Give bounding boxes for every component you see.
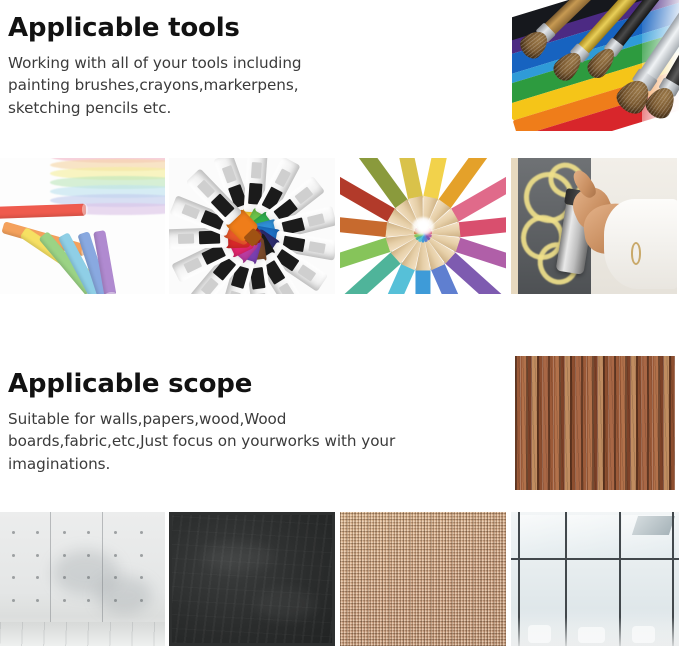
description-line: imaginations.: [8, 453, 395, 475]
section-applicable-tools-text: Applicable tools Working with all of you…: [8, 14, 302, 119]
image-colored-marker-pens: [169, 158, 335, 294]
description-line: painting brushes,crayons,markerpens,: [8, 74, 302, 96]
image-wood-grain-texture: [515, 356, 675, 490]
page-title: Applicable tools: [8, 14, 302, 44]
description-line: sketching pencils etc.: [8, 97, 302, 119]
image-colored-pencils-circle: [340, 158, 506, 294]
section-applicable-scope-text: Applicable scope Suitable for walls,pape…: [8, 370, 395, 475]
image-concrete-wall: [0, 512, 165, 646]
section-title-scope: Applicable scope: [8, 370, 395, 400]
image-blackboard-surface: [169, 512, 335, 646]
image-hand-spray-painting-wall: [511, 158, 677, 294]
image-burlap-fabric: [340, 512, 506, 646]
description-line: Working with all of your tools including: [8, 52, 302, 74]
product-detail-page: Applicable tools Working with all of you…: [0, 0, 679, 646]
section-scope-description: Suitable for walls,papers,wood,Wood boar…: [8, 408, 395, 475]
description-line: Suitable for walls,papers,wood,Wood: [8, 408, 395, 430]
description-line: boards,fabric,etc,Just focus on yourwork…: [8, 430, 395, 452]
section-tools-description: Working with all of your tools including…: [8, 52, 302, 119]
image-glass-curtain-wall: [511, 512, 679, 646]
image-paint-brushes-over-rainbow-strokes: [512, 0, 679, 131]
image-pastel-chalk-sticks: [0, 158, 165, 294]
